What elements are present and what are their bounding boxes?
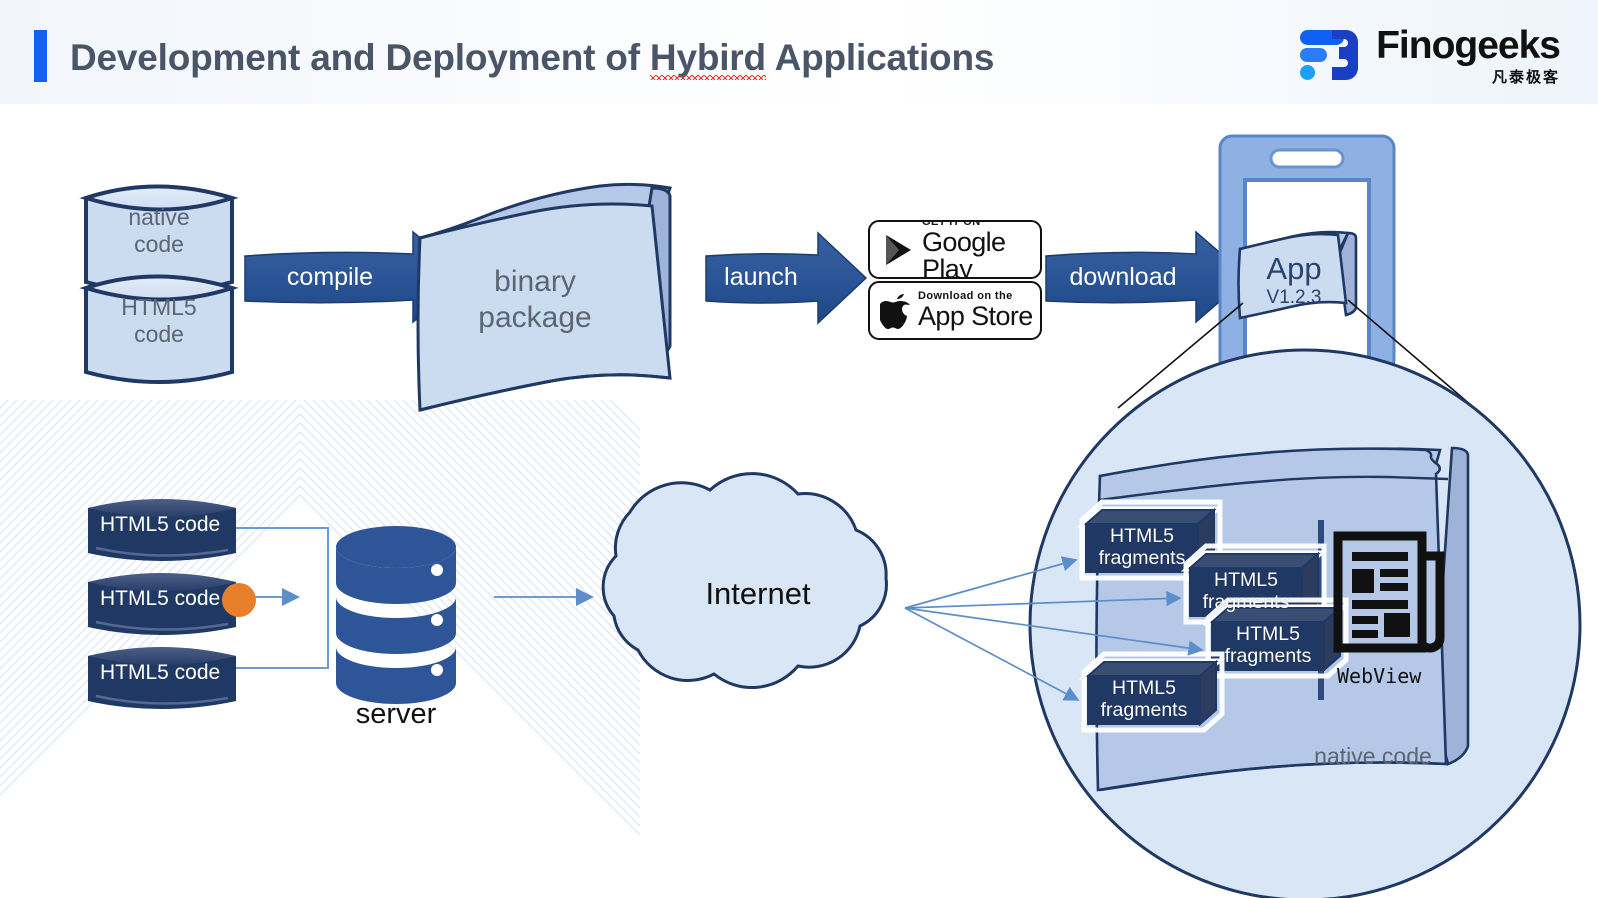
app-store-badge[interactable]: Download on the App Store bbox=[868, 281, 1042, 340]
app-store-badge-big: App Store bbox=[918, 303, 1033, 330]
cylinder-html5-code-label: HTML5 code bbox=[86, 294, 232, 348]
app-version: V1.2.3 bbox=[1242, 288, 1346, 309]
internet-label: Internet bbox=[618, 576, 898, 612]
cylinder-html5-source-2-label: HTML5 code bbox=[100, 588, 220, 609]
native-code-zoom-label: native code bbox=[1283, 743, 1463, 770]
webview-label: WebView bbox=[1337, 664, 1421, 688]
google-play-badge[interactable]: GET IT ON Google Play bbox=[868, 220, 1042, 279]
fragment-box-1-label: HTML5 fragments bbox=[1086, 526, 1198, 570]
cylinder-html5-source-1-label: HTML5 code bbox=[100, 514, 220, 535]
fragment-box-3-label: HTML5 fragments bbox=[1212, 624, 1324, 668]
cylinder-native-code-label: native code bbox=[86, 204, 232, 258]
google-play-icon bbox=[878, 231, 918, 269]
orange-marker-dot bbox=[222, 583, 256, 617]
arrow-download bbox=[1046, 232, 1248, 322]
box-binary-package-label: binary package bbox=[420, 264, 650, 336]
server-icon bbox=[336, 526, 456, 704]
arrow-launch bbox=[706, 233, 866, 323]
google-play-badge-big: Google Play bbox=[922, 229, 1040, 280]
server-label: server bbox=[316, 698, 476, 731]
fragment-box-2-label: HTML5 fragments bbox=[1190, 570, 1302, 614]
slide-canvas: Development and Deployment of Hybird App… bbox=[0, 0, 1598, 898]
cylinder-html5-source-3-label: HTML5 code bbox=[100, 662, 220, 683]
app-box-label: App V1.2.3 bbox=[1242, 253, 1346, 308]
fragment-box-4-label: HTML5 fragments bbox=[1088, 678, 1200, 722]
apple-icon bbox=[880, 291, 916, 331]
app-name: App bbox=[1242, 253, 1346, 286]
